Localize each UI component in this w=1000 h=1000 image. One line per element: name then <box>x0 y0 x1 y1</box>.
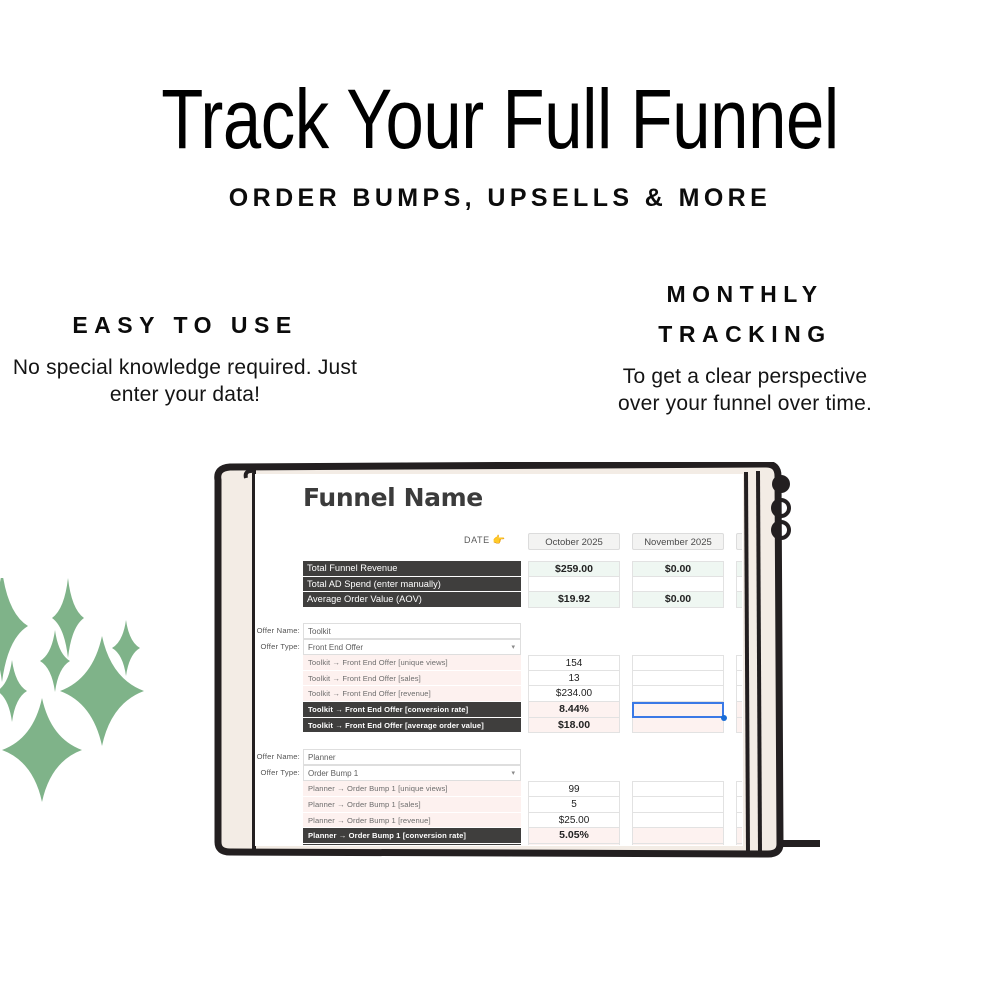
selection-drag-handle[interactable] <box>721 715 727 721</box>
column-header-2[interactable] <box>736 533 742 550</box>
sparkle-star-icon-1 <box>52 578 84 658</box>
sparkle-star-icon-6 <box>2 698 82 802</box>
metric-cell[interactable] <box>632 781 724 797</box>
summary-cell[interactable]: $0.00 <box>632 592 724 608</box>
tablet-device-mockup: Funnel Name DATE 👉 October 2025November … <box>206 462 826 862</box>
metric-cell[interactable] <box>632 828 724 844</box>
feature-body: No special knowledge required. Just ente… <box>8 354 362 408</box>
metric-label: Planner → Order Bump 1 [average order va… <box>303 844 521 845</box>
feature-monthly-tracking: MONTHLY TRACKING To get a clear perspect… <box>600 274 890 417</box>
metric-cell[interactable] <box>736 671 742 687</box>
sparkle-star-icon-4 <box>112 620 140 676</box>
metric-cell[interactable] <box>736 686 742 702</box>
metric-cell[interactable]: 13 <box>528 671 620 687</box>
metric-label: Toolkit → Front End Offer [conversion ra… <box>303 702 521 718</box>
offer-name-label: Offer Name: <box>256 749 300 765</box>
metric-cell[interactable] <box>736 718 742 734</box>
metric-cell[interactable] <box>736 797 742 813</box>
metric-cell[interactable] <box>736 828 742 844</box>
page-title: Track Your Full Funnel <box>90 72 910 166</box>
offer-name-label: Offer Name: <box>256 623 300 639</box>
pointing-right-icon: 👉 <box>493 535 506 546</box>
metric-cell[interactable] <box>632 797 724 813</box>
offer-type-select[interactable]: Front End Offer▾ <box>303 639 521 655</box>
offer-type-select[interactable]: Order Bump 1▾ <box>303 765 521 781</box>
metric-cell[interactable] <box>632 844 724 845</box>
metric-cell[interactable]: 154 <box>528 655 620 671</box>
metric-label: Planner → Order Bump 1 [conversion rate] <box>303 828 521 844</box>
sheet-title: Funnel Name <box>303 483 483 512</box>
offer-name-input[interactable]: Toolkit <box>303 623 521 639</box>
selected-cell[interactable] <box>632 702 724 718</box>
summary-cell[interactable]: $0.00 <box>632 561 724 577</box>
metric-cell[interactable]: 99 <box>528 781 620 797</box>
offer-name-input[interactable]: Planner <box>303 749 521 765</box>
summary-cell[interactable]: $19.92 <box>528 592 620 608</box>
page-subtitle: ORDER BUMPS, UPSELLS & MORE <box>210 178 790 219</box>
metric-cell[interactable] <box>736 781 742 797</box>
metric-cell[interactable] <box>736 844 742 845</box>
feature-title: MONTHLY TRACKING <box>600 274 890 354</box>
camera-dot-icon <box>772 475 790 493</box>
sparkle-star-icon-2 <box>40 630 70 692</box>
metric-label: Planner → Order Bump 1 [revenue] <box>303 813 521 829</box>
summary-row-label: Total Funnel Revenue <box>303 561 521 577</box>
feature-title: EASY TO USE <box>8 305 362 345</box>
feature-easy-to-use: EASY TO USE No special knowledge require… <box>8 305 362 408</box>
offer-type-label: Offer Type: <box>256 639 300 655</box>
metric-cell[interactable]: 8.44% <box>528 702 620 718</box>
metric-cell[interactable]: $18.00 <box>528 718 620 734</box>
sparkle-star-icon-3 <box>0 660 27 722</box>
metric-cell[interactable] <box>632 686 724 702</box>
metric-label: Toolkit → Front End Offer [revenue] <box>303 686 521 702</box>
metric-cell[interactable] <box>632 655 724 671</box>
offer-type-label: Offer Type: <box>256 765 300 781</box>
metric-cell[interactable] <box>632 813 724 829</box>
sparkle-star-icon-0 <box>0 578 28 682</box>
summary-cell[interactable] <box>736 592 742 608</box>
metric-cell[interactable]: 5 <box>528 797 620 813</box>
metric-label: Toolkit → Front End Offer [unique views] <box>303 655 521 671</box>
sparkle-decoration-icon <box>0 578 210 863</box>
summary-cell[interactable] <box>528 577 620 593</box>
metric-label: Planner → Order Bump 1 [unique views] <box>303 781 521 797</box>
metric-cell[interactable] <box>736 655 742 671</box>
metric-cell[interactable]: $5.00 <box>528 844 620 845</box>
chevron-down-icon: ▾ <box>511 640 515 655</box>
date-label: DATE 👉 <box>464 535 506 546</box>
metric-cell[interactable]: $234.00 <box>528 686 620 702</box>
column-header-1[interactable]: November 2025 <box>632 533 724 550</box>
summary-cell[interactable] <box>736 577 742 593</box>
metric-label: Toolkit → Front End Offer [average order… <box>303 718 521 734</box>
summary-cell[interactable] <box>736 561 742 577</box>
summary-row-label: Average Order Value (AOV) <box>303 592 521 608</box>
metric-cell[interactable]: 5.05% <box>528 828 620 844</box>
chevron-down-icon: ▾ <box>511 766 515 781</box>
metric-cell[interactable] <box>632 718 724 734</box>
summary-cell[interactable]: $259.00 <box>528 561 620 577</box>
metric-cell[interactable] <box>736 813 742 829</box>
sparkle-star-icon-5 <box>60 636 144 746</box>
date-label-text: DATE <box>464 535 490 545</box>
metric-label: Planner → Order Bump 1 [sales] <box>303 797 521 813</box>
metric-cell[interactable]: $25.00 <box>528 813 620 829</box>
summary-row-label: Total AD Spend (enter manually) <box>303 577 521 593</box>
spreadsheet-screen[interactable]: Funnel Name DATE 👉 October 2025November … <box>256 475 742 845</box>
summary-cell[interactable] <box>632 577 724 593</box>
metric-cell[interactable] <box>736 702 742 718</box>
metric-label: Toolkit → Front End Offer [sales] <box>303 671 521 687</box>
column-header-0[interactable]: October 2025 <box>528 533 620 550</box>
metric-cell[interactable] <box>632 671 724 687</box>
feature-body: To get a clear perspective over your fun… <box>600 363 890 417</box>
